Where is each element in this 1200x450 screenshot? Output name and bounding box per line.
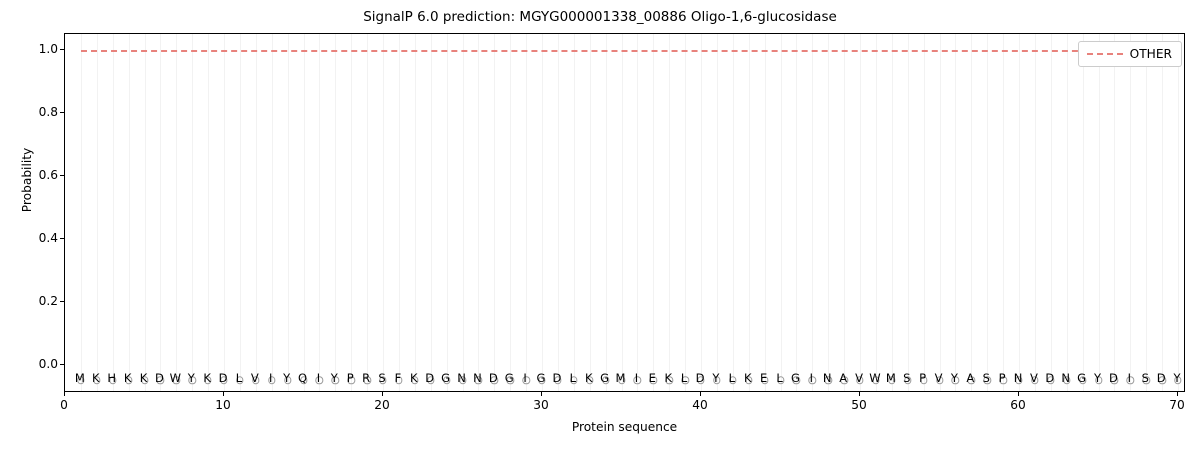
residue-letter: D [425, 370, 434, 386]
residue-letter: D [1045, 370, 1054, 386]
x-tick-label: 70 [1155, 398, 1199, 412]
residue-letter: Y [331, 370, 338, 386]
residue-letter: A [839, 370, 847, 386]
residue-letter: I [269, 370, 272, 386]
residue-letter: M [75, 370, 85, 386]
residue-letter: D [219, 370, 228, 386]
residue-letter: M [886, 370, 896, 386]
residue-letter: S [378, 370, 385, 386]
residue-letter: G [791, 370, 800, 386]
residue-letter: S [1142, 370, 1149, 386]
x-tick-label: 60 [996, 398, 1040, 412]
y-tick-label: 1.0 [18, 42, 58, 56]
x-tick-mark [223, 392, 224, 396]
residue-letter: N [473, 370, 482, 386]
residue-letter: E [760, 370, 767, 386]
residue-letter: V [855, 370, 863, 386]
residue-letter: F [395, 370, 402, 386]
residue-letter: G [441, 370, 450, 386]
residue-letter: I [523, 370, 526, 386]
residue-letter: W [869, 370, 880, 386]
residue-letter: P [999, 370, 1006, 386]
residue-letter: N [1061, 370, 1070, 386]
residue-letter: D [1157, 370, 1166, 386]
residue-letter: K [140, 370, 148, 386]
residue-letter: Y [712, 370, 719, 386]
residue-letter: M [616, 370, 626, 386]
residue-letter: Y [188, 370, 195, 386]
x-tick-label: 40 [678, 398, 722, 412]
residue-letter: E [649, 370, 656, 386]
y-tick-label: 0.2 [18, 294, 58, 308]
residue-letter: K [585, 370, 593, 386]
x-tick-mark [541, 392, 542, 396]
residue-letter: W [170, 370, 181, 386]
residue-letter: G [1077, 370, 1086, 386]
residue-sequence-labels: MKHKKDWYKDLVIYQIYPRSFKDGNNDGIGDLKGMIEKLD… [64, 370, 1185, 386]
residue-letter: L [570, 370, 576, 386]
x-tick-mark [64, 392, 65, 396]
x-tick-label: 10 [201, 398, 245, 412]
x-tick-label: 0 [42, 398, 86, 412]
y-tick-label: 0.4 [18, 231, 58, 245]
x-axis-label: Protein sequence [64, 420, 1185, 434]
y-tick-label: 0.0 [18, 357, 58, 371]
residue-letter: S [903, 370, 910, 386]
x-tick-mark [382, 392, 383, 396]
residue-letter: D [696, 370, 705, 386]
series-layer [65, 34, 1184, 391]
residue-letter: G [600, 370, 609, 386]
residue-letter: K [744, 370, 752, 386]
residue-letter: Y [951, 370, 958, 386]
residue-letter: K [410, 370, 418, 386]
residue-letter: K [124, 370, 132, 386]
x-tick-mark [1018, 392, 1019, 396]
residue-letter: N [457, 370, 466, 386]
residue-letter: D [1109, 370, 1118, 386]
residue-letter: D [155, 370, 164, 386]
x-tick-label: 50 [837, 398, 881, 412]
residue-letter: D [552, 370, 561, 386]
legend[interactable]: OTHER [1078, 41, 1182, 67]
plot-area [64, 33, 1185, 392]
residue-letter: I [635, 370, 638, 386]
residue-letter: L [776, 370, 782, 386]
residue-letter: Y [283, 370, 290, 386]
residue-letter: S [983, 370, 990, 386]
residue-letter: Y [1174, 370, 1181, 386]
residue-letter: Y [1094, 370, 1101, 386]
residue-letter: N [823, 370, 832, 386]
x-tick-label: 20 [360, 398, 404, 412]
residue-letter: G [537, 370, 546, 386]
legend-label-other: OTHER [1130, 47, 1172, 61]
residue-letter: L [681, 370, 687, 386]
residue-letter: V [935, 370, 943, 386]
residue-letter: Q [298, 370, 307, 386]
residue-letter: N [1014, 370, 1023, 386]
x-tick-mark [700, 392, 701, 396]
y-tick-label: 0.6 [18, 168, 58, 182]
series-line-other [81, 50, 1178, 52]
residue-letter: A [966, 370, 974, 386]
y-tick-label: 0.8 [18, 105, 58, 119]
legend-line-other [1087, 53, 1123, 55]
x-tick-mark [1177, 392, 1178, 396]
residue-letter: I [1128, 370, 1131, 386]
residue-letter: K [203, 370, 211, 386]
residue-letter: V [1030, 370, 1038, 386]
residue-letter: V [251, 370, 259, 386]
residue-letter: L [236, 370, 242, 386]
residue-letter: I [810, 370, 813, 386]
residue-letter: P [347, 370, 354, 386]
x-tick-label: 30 [519, 398, 563, 412]
x-tick-mark [859, 392, 860, 396]
residue-letter: K [92, 370, 100, 386]
residue-letter: I [317, 370, 320, 386]
residue-letter: P [919, 370, 926, 386]
chart-title: SignalP 6.0 prediction: MGYG000001338_00… [0, 9, 1200, 25]
residue-letter: D [489, 370, 498, 386]
residue-letter: R [362, 370, 370, 386]
residue-letter: G [505, 370, 514, 386]
residue-letter: L [729, 370, 735, 386]
residue-letter: K [664, 370, 672, 386]
residue-letter: H [107, 370, 116, 386]
signalp-prediction-figure: SignalP 6.0 prediction: MGYG000001338_00… [0, 0, 1200, 450]
